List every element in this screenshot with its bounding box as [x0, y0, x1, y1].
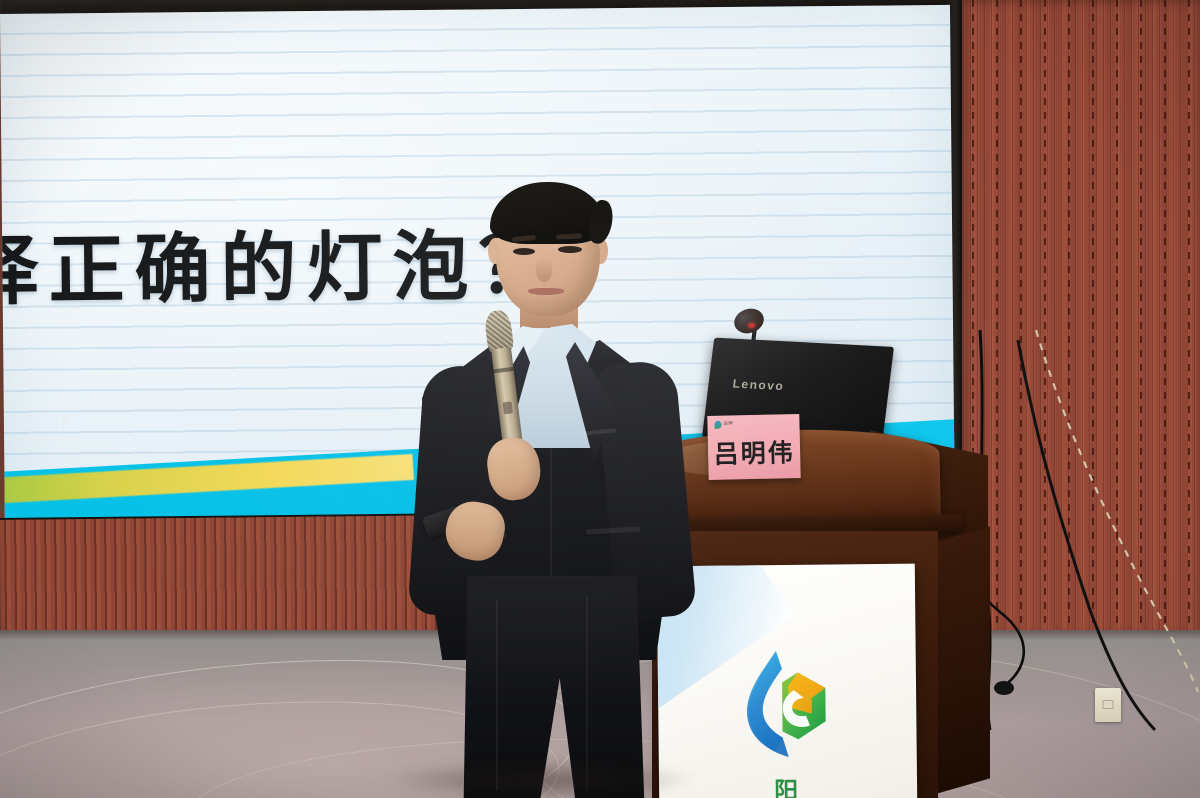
presentation-photo: 择正确的灯泡？ 农业科 Lenovo	[0, 0, 1200, 798]
eye-right	[558, 246, 582, 253]
nose	[536, 258, 552, 282]
wall-power-outlet	[1095, 688, 1121, 722]
speaker-name: 吕明伟	[708, 433, 801, 471]
company-logo-icon	[733, 646, 842, 763]
name-card-logo-label: 品牌	[723, 422, 733, 427]
floor-shadow	[380, 760, 700, 798]
eye-left	[513, 248, 535, 255]
presenter	[400, 180, 700, 798]
name-card: 品牌 吕明伟	[707, 414, 800, 480]
mouth	[528, 288, 564, 295]
microphone-grille-icon	[483, 309, 514, 354]
company-logo-text: 阳	[774, 771, 802, 798]
droplet-icon	[714, 420, 721, 428]
hair	[490, 182, 606, 244]
laptop-brand-label: Lenovo	[732, 377, 785, 394]
name-card-logo: 品牌	[714, 419, 748, 429]
